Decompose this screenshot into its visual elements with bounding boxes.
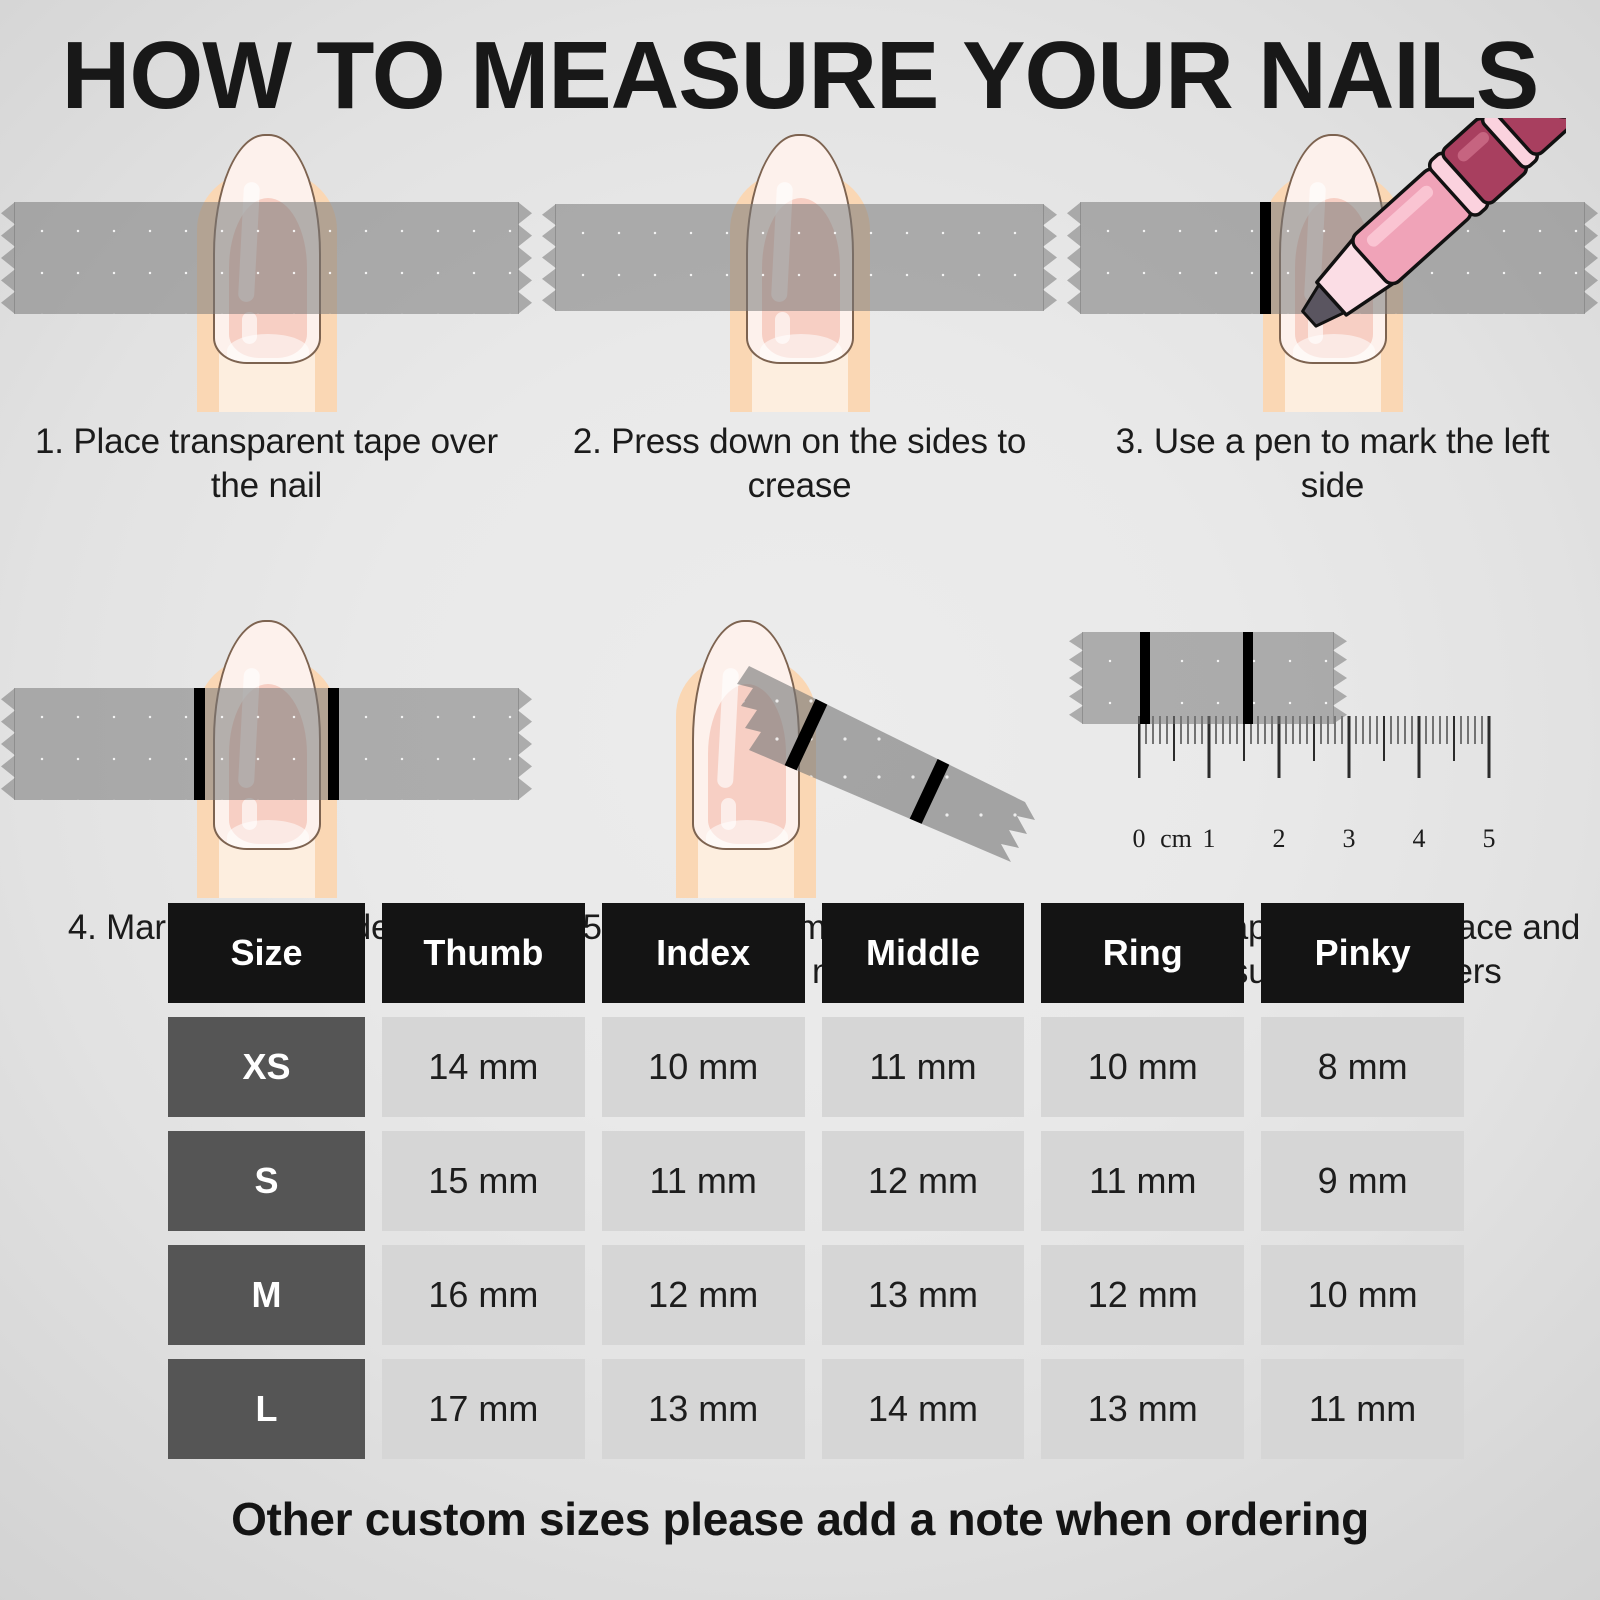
column-header-size: Size <box>168 903 365 1003</box>
nail-lunula <box>1293 334 1375 364</box>
peeled-tape <box>701 654 1061 904</box>
nail-lunula <box>227 334 309 364</box>
step-3-illustration <box>1066 120 1599 412</box>
ruler-label-5: 5 <box>1483 824 1496 854</box>
cell-thumb: 16 mm <box>382 1245 585 1345</box>
cell-thumb: 14 mm <box>382 1017 585 1117</box>
tape-zigzag-left-icon <box>1069 632 1083 724</box>
table-row: M 16 mm 12 mm 13 mm 12 mm 10 mm <box>168 1245 1464 1345</box>
tape-texture <box>14 202 519 314</box>
nail-lunula <box>760 334 842 364</box>
step-1-caption: 1. Place transparent tape over the nail <box>27 420 507 508</box>
left-mark <box>194 688 205 800</box>
table-row: S 15 mm 11 mm 12 mm 11 mm 9 mm <box>168 1131 1464 1231</box>
cell-middle: 14 mm <box>822 1359 1025 1459</box>
size-label: M <box>168 1245 365 1345</box>
tape-texture <box>1082 632 1334 724</box>
column-header-thumb: Thumb <box>382 903 585 1003</box>
left-mark <box>1140 632 1150 724</box>
ruler-label-2: 2 <box>1273 824 1286 854</box>
page-title: HOW TO MEASURE YOUR NAILS <box>8 28 1592 124</box>
tape-zigzag-left-icon <box>1067 202 1081 314</box>
ruler-label-3: 3 <box>1343 824 1356 854</box>
step-2-illustration <box>533 120 1066 412</box>
cell-thumb: 17 mm <box>382 1359 585 1459</box>
cell-pinky: 9 mm <box>1261 1131 1464 1231</box>
tape-strip-flat <box>1082 632 1334 724</box>
cell-pinky: 11 mm <box>1261 1359 1464 1459</box>
pen-icon <box>1266 118 1566 338</box>
tape-strip-creased <box>555 204 1044 311</box>
step-1: 1. Place transparent tape over the nail <box>0 120 533 508</box>
step-5-illustration <box>533 606 1066 898</box>
cell-middle: 12 mm <box>822 1131 1025 1231</box>
step-row-top: 1. Place transparent tape over the nail <box>0 120 1600 508</box>
nail-lunula <box>227 820 309 850</box>
cell-pinky: 8 mm <box>1261 1017 1464 1117</box>
cell-middle: 13 mm <box>822 1245 1025 1345</box>
cell-pinky: 10 mm <box>1261 1245 1464 1345</box>
step-2-caption: 2. Press down on the sides to crease <box>560 420 1040 508</box>
step-4-illustration <box>0 606 533 898</box>
ruler <box>1138 716 1548 824</box>
ruler-unit-label: cm <box>1160 824 1192 854</box>
cell-thumb: 15 mm <box>382 1131 585 1231</box>
cell-index: 11 mm <box>602 1131 805 1231</box>
tape-zigzag-left-icon <box>1 202 15 314</box>
table-row: L 17 mm 13 mm 14 mm 13 mm 11 mm <box>168 1359 1464 1459</box>
column-header-index: Index <box>602 903 805 1003</box>
cell-index: 13 mm <box>602 1359 805 1459</box>
cell-ring: 12 mm <box>1041 1245 1244 1345</box>
cell-middle: 11 mm <box>822 1017 1025 1117</box>
cell-index: 12 mm <box>602 1245 805 1345</box>
footer-note: Other custom sizes please add a note whe… <box>0 1492 1600 1546</box>
step-3: 3. Use a pen to mark the left side <box>1066 120 1599 508</box>
tape-zigzag-right-icon <box>518 688 532 800</box>
size-label: S <box>168 1131 365 1231</box>
tape-zigzag-right-icon <box>518 202 532 314</box>
tape-zigzag-right-icon <box>1333 632 1347 724</box>
tape-zigzag-right-icon <box>1584 202 1598 314</box>
step-3-caption: 3. Use a pen to mark the left side <box>1093 420 1573 508</box>
tape-zigzag-left-icon <box>542 204 556 311</box>
step-2: 2. Press down on the sides to crease <box>533 120 1066 508</box>
tape-zigzag-right-icon <box>1043 204 1057 311</box>
column-header-pinky: Pinky <box>1261 903 1464 1003</box>
ruler-label-1: 1 <box>1203 824 1216 854</box>
table-header-row: Size Thumb Index Middle Ring Pinky <box>168 903 1464 1003</box>
ruler-labels: 0 cm 1 2 3 4 5 <box>1138 824 1548 860</box>
cell-index: 10 mm <box>602 1017 805 1117</box>
cell-ring: 10 mm <box>1041 1017 1244 1117</box>
ruler-ticks <box>1139 716 1489 778</box>
cell-ring: 13 mm <box>1041 1359 1244 1459</box>
ruler-label-4: 4 <box>1413 824 1426 854</box>
right-mark <box>328 688 339 800</box>
tape-texture <box>555 204 1044 311</box>
tape-zigzag-left-icon <box>1 688 15 800</box>
tape-strip <box>14 202 519 314</box>
column-header-ring: Ring <box>1041 903 1244 1003</box>
ruler-label-0: 0 <box>1133 824 1146 854</box>
step-1-illustration <box>0 120 533 412</box>
table-row: XS 14 mm 10 mm 11 mm 10 mm 8 mm <box>168 1017 1464 1117</box>
step-6-illustration: 0 cm 1 2 3 4 5 <box>1066 606 1599 898</box>
cell-ring: 11 mm <box>1041 1131 1244 1231</box>
size-label: XS <box>168 1017 365 1117</box>
column-header-middle: Middle <box>822 903 1025 1003</box>
right-mark <box>1243 632 1253 724</box>
steps-section: 1. Place transparent tape over the nail <box>0 120 1600 994</box>
size-label: L <box>168 1359 365 1459</box>
tape-strip <box>14 688 519 800</box>
infographic-page: HOW TO MEASURE YOUR NAILS <box>0 0 1600 1600</box>
size-chart-table: Size Thumb Index Middle Ring Pinky XS 14… <box>168 903 1464 1459</box>
tape-texture <box>14 688 519 800</box>
